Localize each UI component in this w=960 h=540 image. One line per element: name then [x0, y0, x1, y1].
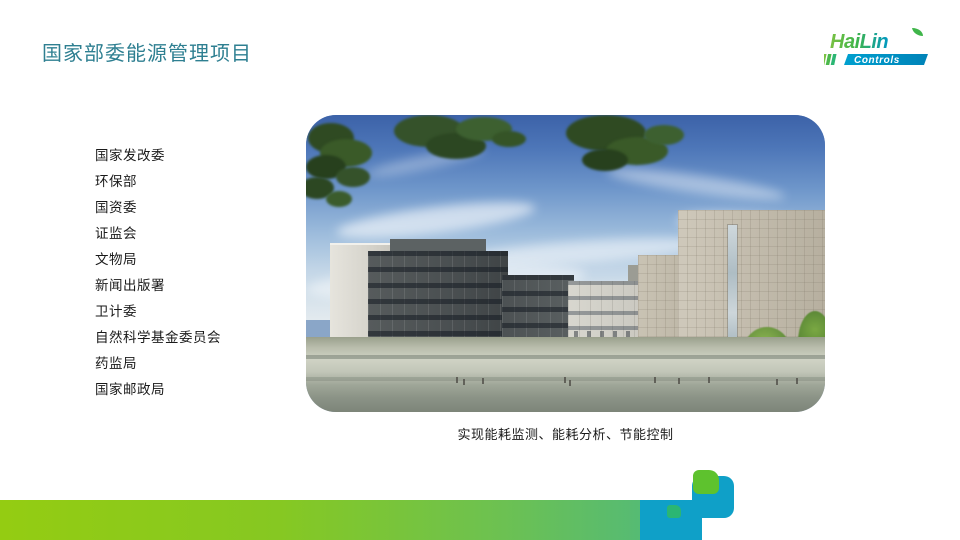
photo-caption: 实现能耗监测、能耗分析、节能控制 [306, 424, 825, 443]
list-item: 卫计委 [95, 299, 295, 325]
list-item: 国资委 [95, 195, 295, 221]
list-item: 自然科学基金委员会 [95, 325, 295, 351]
list-item: 新闻出版署 [95, 273, 295, 299]
list-item: 国家发改委 [95, 143, 295, 169]
pedestrian [569, 380, 571, 386]
footer-decoration [640, 470, 960, 540]
logo-wordmark-text: HaiLin [830, 31, 888, 53]
logo-subtext: Controls [854, 55, 900, 66]
project-photo [306, 115, 825, 412]
agency-list: 国家发改委 环保部 国资委 证监会 文物局 新闻出版署 卫计委 自然科学基金委员… [95, 143, 295, 403]
photo-canvas [306, 115, 825, 412]
pedestrian [678, 378, 680, 384]
decoration-square-green-small [667, 505, 681, 518]
pedestrian [776, 379, 778, 385]
page-title: 国家部委能源管理项目 [42, 40, 252, 68]
pedestrian [796, 378, 798, 384]
list-item: 证监会 [95, 221, 295, 247]
pedestrian [564, 377, 566, 383]
pedestrian [654, 377, 656, 383]
list-item: 环保部 [95, 169, 295, 195]
leaf-icon [912, 28, 923, 36]
hailin-controls-logo: HaiLin Controls [824, 26, 942, 72]
pedestrian [463, 379, 465, 385]
list-item: 国家邮政局 [95, 377, 295, 403]
decoration-square-green [693, 470, 719, 494]
list-item: 文物局 [95, 247, 295, 273]
pedestrian [708, 377, 710, 383]
pedestrian [456, 377, 458, 383]
plaza-ground [306, 337, 825, 412]
pedestrian [482, 378, 484, 384]
list-item: 药监局 [95, 351, 295, 377]
footer-gradient-bar [0, 500, 700, 540]
teal-flag-shape [640, 476, 734, 540]
slide-root: 国家部委能源管理项目 HaiLin [0, 0, 960, 540]
